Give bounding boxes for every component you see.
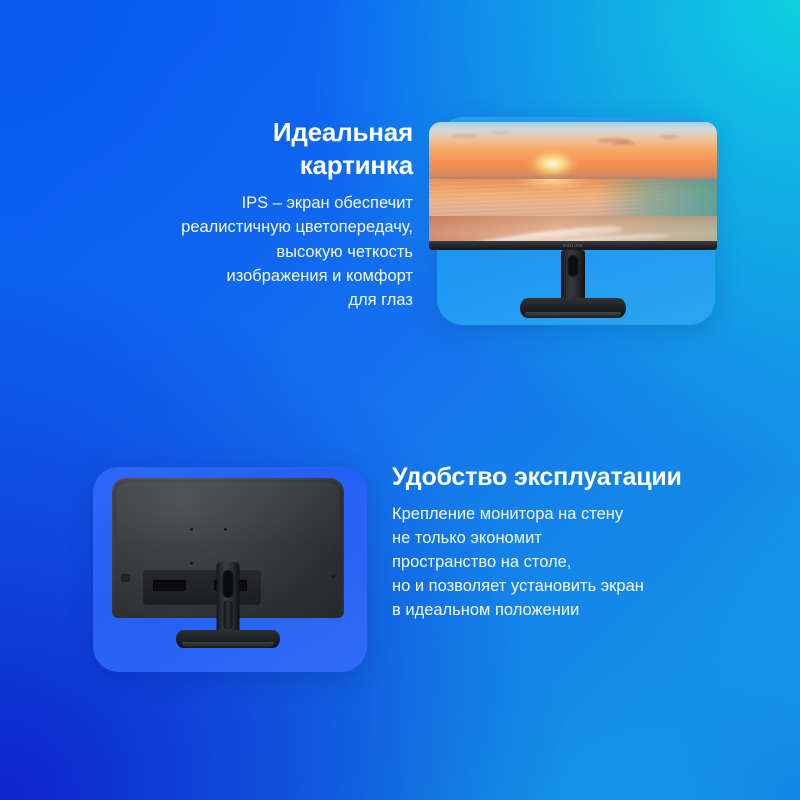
teal-water-tint	[596, 179, 717, 217]
ideal-picture-text-block: Идеальная картинка IPS – экран обеспечит…	[60, 116, 413, 312]
cloud-shape	[452, 134, 478, 138]
ideal-picture-description: IPS – экран обеспечит реалистичную цвето…	[60, 191, 413, 312]
stand-cable-slot	[568, 255, 579, 277]
brand-logo: PHILIPS	[563, 243, 583, 248]
sunset-sky	[429, 122, 717, 180]
cloud-shape	[492, 131, 510, 134]
cloud-shape	[659, 135, 679, 139]
rear-panel-dot	[332, 575, 335, 578]
monitor-front-view-image: PHILIPS	[429, 122, 717, 317]
monitor-stand-base-rear-lip	[182, 642, 274, 648]
monitor-screen-sunset-photo	[429, 122, 717, 242]
monitor-port-slot	[153, 580, 186, 591]
ease-of-use-heading: Удобство эксплуатации	[392, 462, 762, 492]
vesa-mount-hole	[190, 562, 193, 565]
stand-cable-slot-rear	[223, 570, 234, 598]
ideal-picture-heading: Идеальная картинка	[60, 116, 413, 182]
vesa-mount-hole	[190, 528, 193, 531]
ease-of-use-text-block: Удобство эксплуатации Крепление монитора…	[392, 462, 762, 623]
vesa-mount-hole	[224, 528, 227, 531]
cloud-shape	[613, 141, 635, 145]
monitor-stand-base-lip	[525, 312, 621, 318]
kensington-lock-slot	[121, 574, 130, 582]
ease-of-use-description: Крепление монитора на стену не только эк…	[392, 503, 762, 623]
stand-cable-channel	[224, 600, 233, 630]
beach-sand	[429, 216, 717, 242]
monitor-rear-view-image	[112, 478, 344, 663]
ocean-water	[429, 179, 717, 217]
